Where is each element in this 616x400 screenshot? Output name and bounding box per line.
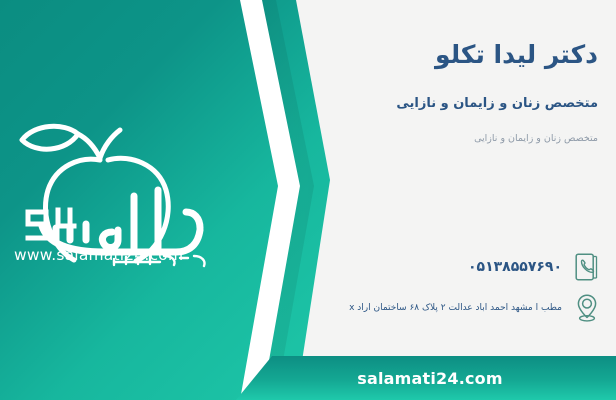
phone-book-icon bbox=[572, 250, 602, 284]
address-contact-row[interactable]: مطب ا مشهد احمد اباد عدالت ۲ پلاک ۶۸ ساخ… bbox=[349, 291, 602, 325]
logo-website-url: www.salamati24.com bbox=[14, 246, 214, 264]
business-card: www.salamati24.com دکتر لیدا تکلو متخصص … bbox=[0, 0, 616, 400]
card-content: دکتر لیدا تکلو متخصص زنان و زایمان و ناز… bbox=[330, 0, 616, 400]
phone-number: ۰۵۱۳۸۵۵۷۶۹۰ bbox=[468, 259, 562, 275]
doctor-specialty-secondary: متخصص زنان و زایمان و نازایی bbox=[348, 132, 598, 145]
map-pin-icon bbox=[572, 291, 602, 325]
footer-bar[interactable]: salamati24.com bbox=[236, 356, 616, 400]
doctor-specialty: متخصص زنان و زایمان و نازایی bbox=[348, 95, 598, 113]
footer-website: salamati24.com bbox=[349, 369, 503, 388]
phone-contact-row[interactable]: ۰۵۱۳۸۵۵۷۶۹۰ bbox=[468, 250, 602, 284]
doctor-name: دکتر لیدا تکلو bbox=[348, 40, 598, 70]
clinic-address: مطب ا مشهد احمد اباد عدالت ۲ پلاک ۶۸ ساخ… bbox=[349, 303, 562, 313]
